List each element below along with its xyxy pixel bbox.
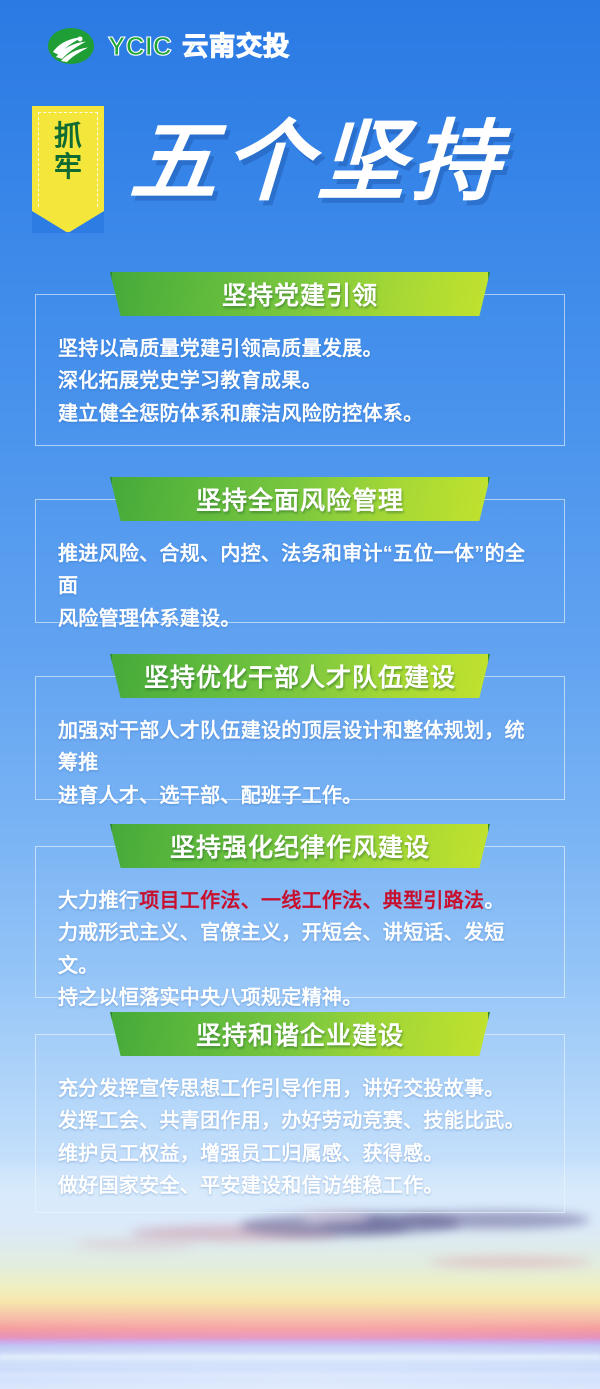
ribbon-fold-right-icon [488,824,501,836]
ribbon-char-1: 抓 [32,120,104,151]
section-5-box: 充分发挥宣传思想工作引导作用，讲好交投故事。发挥工会、共青团作用，办好劳动竞赛、… [35,1034,565,1213]
brand-header: YCIC云南交投 [46,26,290,66]
section-5-tab: 坚持和谐企业建设 [110,1012,490,1056]
section-3-tab: 坚持优化干部人才队伍建设 [110,654,490,698]
section-3-tab-wrap: 坚持优化干部人才队伍建设 [35,654,565,698]
ycic-logo-icon [46,26,96,66]
section-3-title: 坚持优化干部人才队伍建设 [144,658,456,694]
section-1-body: 坚持以高质量党建引领高质量发展。深化拓展党史学习教育成果。建立健全惩防体系和廉洁… [36,295,564,456]
section-2-line: 推进风险、合规、内控、法务和审计“五位一体”的全面 [58,538,542,603]
highlighted-text: 项目工作法、一线工作法、典型引路法 [139,890,484,912]
section-2-tab-wrap: 坚持全面风险管理 [35,477,565,521]
body-text: 大力推行 [58,890,139,912]
section-1-tab-wrap: 坚持党建引领 [35,272,565,316]
body-text: 做好国家安全、平安建设和信访维稳工作。 [58,1175,444,1197]
ribbon-fold-left-icon [99,824,112,836]
section-1-tab: 坚持党建引领 [110,272,490,316]
poster-canvas: YCIC云南交投 抓 牢 五个坚持 坚持以高质量党建引领高质量发展。深化拓展党史… [0,0,600,1389]
brand-wordmark: YCIC云南交投 [108,33,290,59]
section-1-box: 坚持以高质量党建引领高质量发展。深化拓展党史学习教育成果。建立健全惩防体系和廉洁… [35,294,565,446]
section-3: 加强对干部人才队伍建设的顶层设计和整体规划，统筹推进育人才、选干部、配班子工作。… [35,654,565,806]
ribbon-fold-left-icon [99,272,112,284]
section-5-line: 维护员工权益，增强员工归属感、获得感。 [58,1138,542,1170]
body-text: 力戒形式主义、官僚主义，开短会、讲短话、发短文。 [58,922,505,976]
section-5-tab-wrap: 坚持和谐企业建设 [35,1012,565,1056]
section-1-title: 坚持党建引领 [222,276,378,312]
body-text: 加强对干部人才队伍建设的顶层设计和整体规划，统筹推 [58,720,525,774]
ribbon-badge: 抓 牢 [32,106,104,232]
section-4-tab-wrap: 坚持强化纪律作风建设 [35,824,565,868]
section-4-line: 持之以恒落实中央八项规定精神。 [58,982,542,1014]
section-4-title: 坚持强化纪律作风建设 [170,828,430,864]
body-text: 坚持以高质量党建引领高质量发展。 [58,338,383,360]
section-2: 推进风险、合规、内控、法务和审计“五位一体”的全面风险管理体系建设。 坚持全面风… [35,477,565,629]
section-3-line: 进育人才、选干部、配班子工作。 [58,780,542,812]
title-block: 抓 牢 五个坚持 [0,100,600,240]
section-5-line: 发挥工会、共青团作用，办好劳动竞赛、技能比武。 [58,1105,542,1137]
ribbon-notch [32,208,104,232]
section-4-box: 大力推行项目工作法、一线工作法、典型引路法。力戒形式主义、官僚主义，开短会、讲短… [35,846,565,998]
section-2-body: 推进风险、合规、内控、法务和审计“五位一体”的全面风险管理体系建设。 [36,500,564,661]
ribbon-char-2: 牢 [32,151,104,182]
ribbon-fold-right-icon [488,654,501,666]
section-1-line: 坚持以高质量党建引领高质量发展。 [58,333,542,365]
page-title: 五个坚持 [128,114,509,209]
body-text: 进育人才、选干部、配班子工作。 [58,785,363,807]
section-5-title: 坚持和谐企业建设 [196,1016,404,1052]
body-text: 风险管理体系建设。 [58,608,241,630]
ribbon-fold-right-icon [488,477,501,489]
body-text: 充分发挥宣传思想工作引导作用，讲好交投故事。 [58,1078,505,1100]
section-4-tab: 坚持强化纪律作风建设 [110,824,490,868]
ribbon-fold-right-icon [488,272,501,284]
ribbon-fold-left-icon [99,1012,112,1024]
section-5-line: 做好国家安全、平安建设和信访维稳工作。 [58,1170,542,1202]
section-4-line: 大力推行项目工作法、一线工作法、典型引路法。 [58,885,542,917]
body-text: 深化拓展党史学习教育成果。 [58,370,322,392]
section-1: 坚持以高质量党建引领高质量发展。深化拓展党史学习教育成果。建立健全惩防体系和廉洁… [35,272,565,452]
brand-name-cn: 云南交投 [182,31,290,61]
section-3-line: 加强对干部人才队伍建设的顶层设计和整体规划，统筹推 [58,715,542,780]
section-1-line: 深化拓展党史学习教育成果。 [58,365,542,397]
section-2-line: 风险管理体系建设。 [58,603,542,635]
body-text: 持之以恒落实中央八项规定精神。 [58,987,363,1009]
ribbon-label: 抓 牢 [32,120,104,183]
section-1-line: 建立健全惩防体系和廉洁风险防控体系。 [58,398,542,430]
ribbon-fold-right-icon [488,1012,501,1024]
section-5-line: 充分发挥宣传思想工作引导作用，讲好交投故事。 [58,1073,542,1105]
section-2-tab: 坚持全面风险管理 [110,477,490,521]
section-5: 充分发挥宣传思想工作引导作用，讲好交投故事。发挥工会、共青团作用，办好劳动竞赛、… [35,1012,565,1219]
section-5-body: 充分发挥宣传思想工作引导作用，讲好交投故事。发挥工会、共青团作用，办好劳动竞赛、… [36,1035,564,1229]
body-text: 。 [484,890,504,912]
section-4: 大力推行项目工作法、一线工作法、典型引路法。力戒形式主义、官僚主义，开短会、讲短… [35,824,565,1004]
ribbon-fold-left-icon [99,477,112,489]
brand-abbr: YCIC [108,31,172,61]
body-text: 建立健全惩防体系和廉洁风险防控体系。 [58,403,423,425]
body-text: 推进风险、合规、内控、法务和审计“五位一体”的全面 [58,543,525,597]
section-2-title: 坚持全面风险管理 [196,481,404,517]
section-3-body: 加强对干部人才队伍建设的顶层设计和整体规划，统筹推进育人才、选干部、配班子工作。 [36,677,564,838]
body-text: 发挥工会、共青团作用，办好劳动竞赛、技能比武。 [58,1110,525,1132]
section-4-line: 力戒形式主义、官僚主义，开短会、讲短话、发短文。 [58,917,542,982]
ribbon-fold-left-icon [99,654,112,666]
body-text: 维护员工权益，增强员工归属感、获得感。 [58,1143,444,1165]
